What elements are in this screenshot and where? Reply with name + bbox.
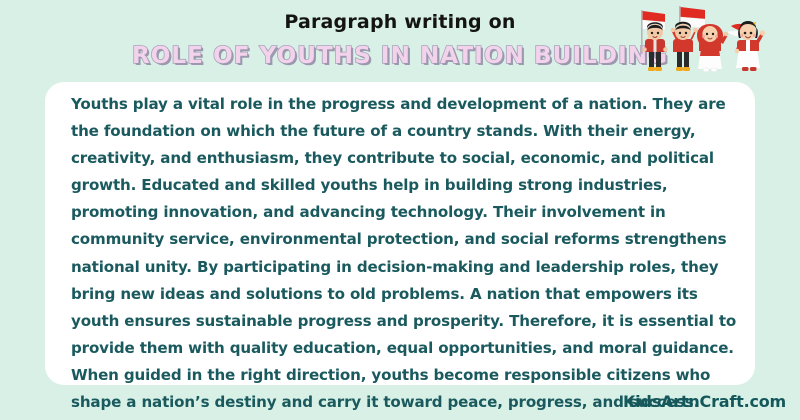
page-header: Paragraph writing on ROLE OF YOUTHS IN N…: [0, 0, 800, 80]
child-figure-3: [697, 24, 728, 72]
site-watermark: KidsArtnCraft.com: [623, 392, 786, 411]
paragraph-card: Youths play a vital role in the progress…: [45, 82, 755, 385]
child-figure-2: [671, 22, 698, 71]
children-with-flags-illustration: [635, 4, 795, 80]
child-figure-4: [735, 21, 765, 71]
paragraph-text: Youths play a vital role in the progress…: [71, 91, 737, 416]
